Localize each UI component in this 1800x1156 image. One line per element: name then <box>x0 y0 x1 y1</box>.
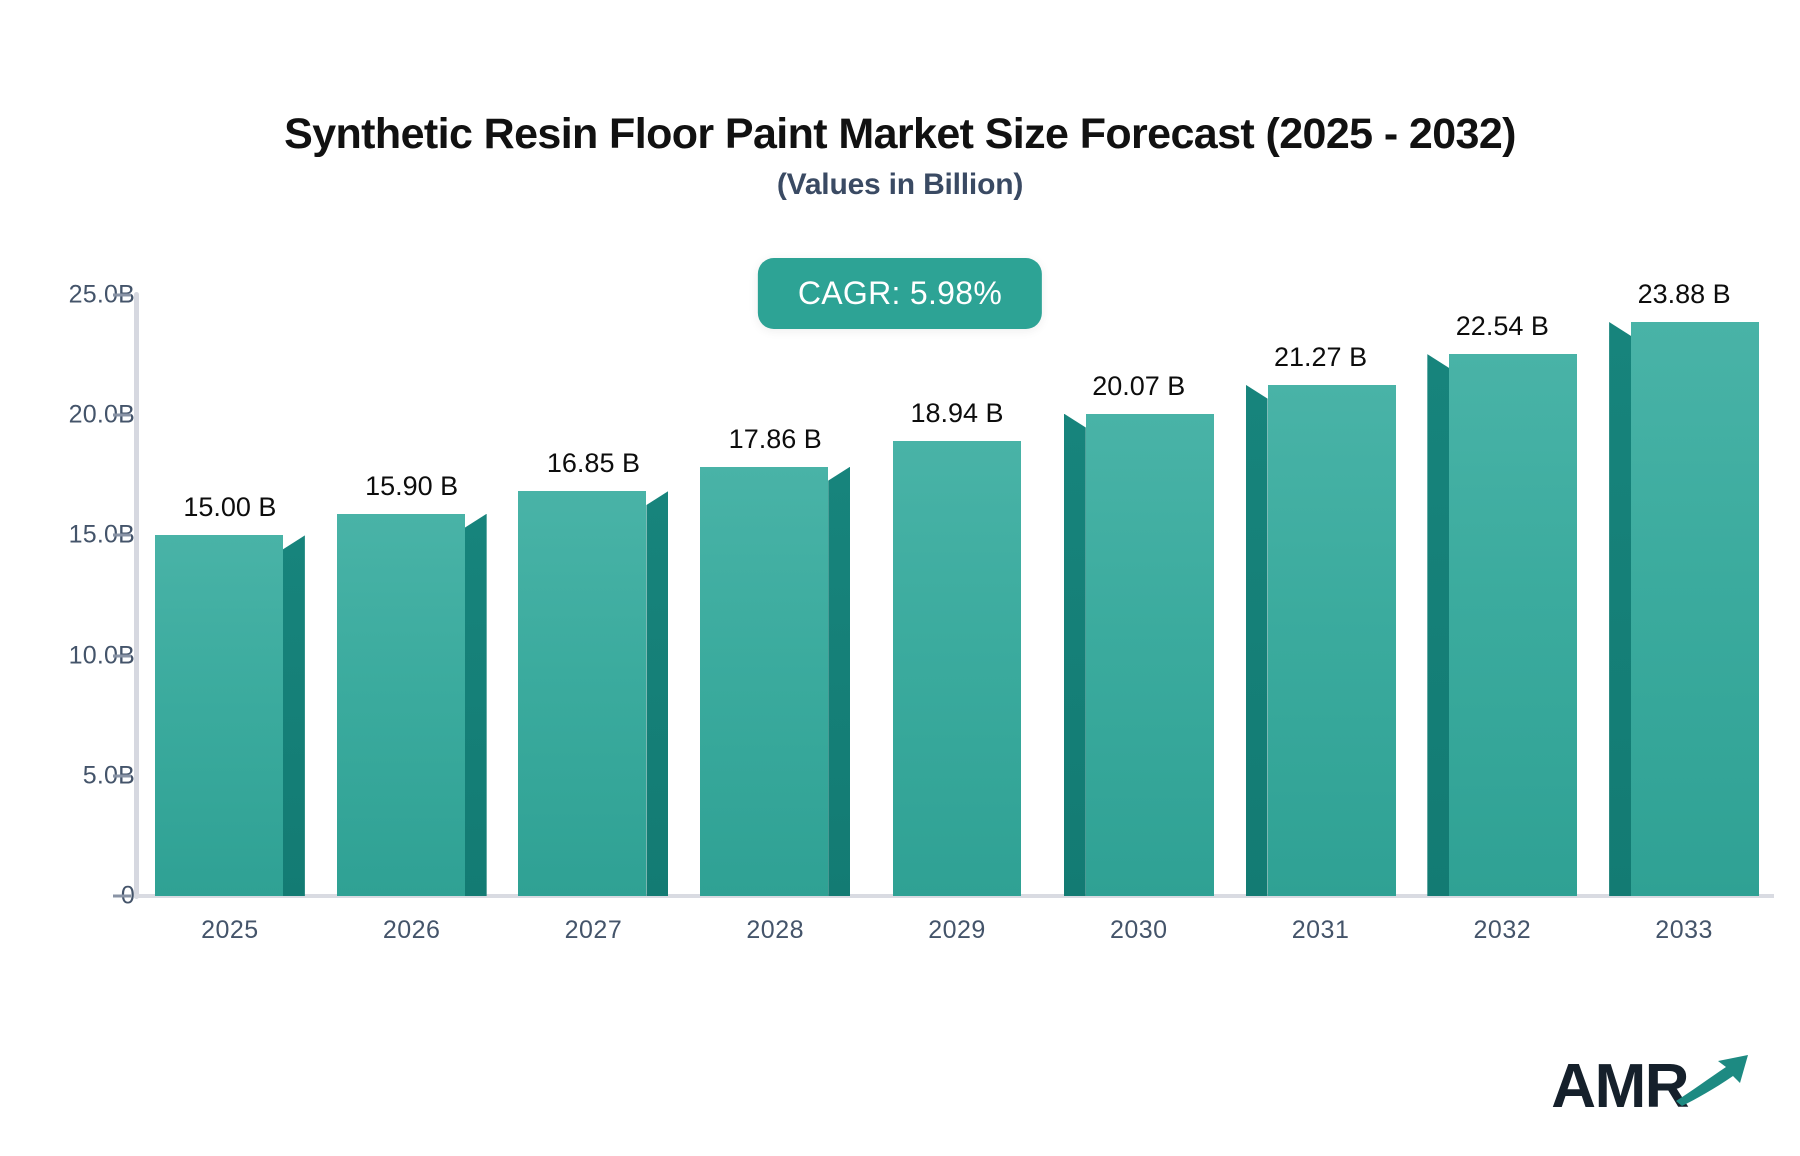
bar-value-label: 20.07 B <box>1064 371 1214 402</box>
bar-front-face <box>518 491 646 896</box>
y-axis-tick-label: 10.0B <box>0 641 135 670</box>
cagr-badge: CAGR: 5.98% <box>758 258 1042 329</box>
bar-front-face <box>1268 385 1396 896</box>
x-axis-label-2027: 2027 <box>518 916 668 945</box>
bar-front-face <box>337 514 465 896</box>
bar-front-face <box>1631 322 1759 896</box>
bar-column[interactable] <box>1246 385 1396 896</box>
bar-front-face <box>1086 414 1214 896</box>
y-axis-tick-mark <box>113 895 131 898</box>
bar-side-face <box>1064 414 1086 896</box>
x-axis-label-2030: 2030 <box>1064 916 1214 945</box>
y-axis-tick-label: 20.0B <box>0 401 135 430</box>
bar-column[interactable] <box>518 491 668 896</box>
bar-front-face <box>893 441 1021 896</box>
bar-value-label: 15.90 B <box>337 471 487 502</box>
bar-value-label: 23.88 B <box>1609 279 1759 310</box>
bar-column[interactable] <box>155 535 305 896</box>
bar-side-face <box>828 467 850 896</box>
bar-value-label: 22.54 B <box>1427 311 1577 342</box>
bar-2030[interactable]: 20.07 B <box>1064 414 1214 896</box>
bar-2033[interactable]: 23.88 B <box>1609 322 1759 896</box>
bar-front-face <box>1449 354 1577 896</box>
bar-side-face <box>283 535 305 896</box>
bar-column[interactable] <box>700 467 850 896</box>
y-axis-tick-mark <box>113 294 131 297</box>
y-axis-tick-label: 0 <box>0 882 135 911</box>
x-axis-label-2032: 2032 <box>1427 916 1577 945</box>
x-axis-label-2025: 2025 <box>155 916 305 945</box>
chart-title: Synthetic Resin Floor Paint Market Size … <box>0 110 1800 159</box>
bar-value-label: 18.94 B <box>882 398 1032 429</box>
bar-side-face <box>1246 385 1268 896</box>
bar-side-face <box>646 491 668 896</box>
bar-2028[interactable]: 17.86 B <box>700 467 850 896</box>
bar-front-face <box>155 535 283 896</box>
y-axis-tick-mark <box>113 414 131 417</box>
x-axis-label-2028: 2028 <box>700 916 850 945</box>
bar-column[interactable] <box>882 441 1032 896</box>
bar-side-face <box>1427 354 1449 896</box>
y-axis-tick-mark <box>113 654 131 657</box>
bar-front-face <box>700 467 828 896</box>
x-axis-label-2031: 2031 <box>1246 916 1396 945</box>
y-axis-tick-label: 25.0B <box>0 281 135 310</box>
growth-arrow-icon <box>1674 1051 1752 1112</box>
bar-2027[interactable]: 16.85 B <box>518 491 668 896</box>
bar-column[interactable] <box>337 514 487 896</box>
x-axis-line <box>134 894 1774 898</box>
amr-wordmark: AMR <box>1551 1056 1688 1118</box>
x-axis-label-2029: 2029 <box>882 916 1032 945</box>
bar-side-face <box>1609 322 1631 896</box>
amr-logo: AMR <box>1551 1040 1752 1118</box>
y-axis-tick-mark <box>113 774 131 777</box>
y-axis-tick-mark <box>113 534 131 537</box>
y-axis-line <box>134 292 139 899</box>
bar-2031[interactable]: 21.27 B <box>1246 385 1396 896</box>
bar-column[interactable] <box>1609 322 1759 896</box>
bar-column[interactable] <box>1427 354 1577 896</box>
bar-value-label: 15.00 B <box>155 492 305 523</box>
x-axis-label-2033: 2033 <box>1609 916 1759 945</box>
bar-2032[interactable]: 22.54 B <box>1427 354 1577 896</box>
bar-column[interactable] <box>1064 414 1214 896</box>
bar-2029[interactable]: 18.94 B <box>882 441 1032 896</box>
bar-value-label: 17.86 B <box>700 424 850 455</box>
bar-value-label: 16.85 B <box>518 448 668 479</box>
x-axis-label-2026: 2026 <box>337 916 487 945</box>
y-axis-tick-label: 15.0B <box>0 521 135 550</box>
bar-2026[interactable]: 15.90 B <box>337 514 487 896</box>
chart-subtitle: (Values in Billion) <box>0 168 1800 202</box>
bar-side-face <box>465 514 487 896</box>
bar-2025[interactable]: 15.00 B <box>155 535 305 896</box>
y-axis-tick-label: 5.0B <box>0 761 135 790</box>
bar-value-label: 21.27 B <box>1246 342 1396 373</box>
